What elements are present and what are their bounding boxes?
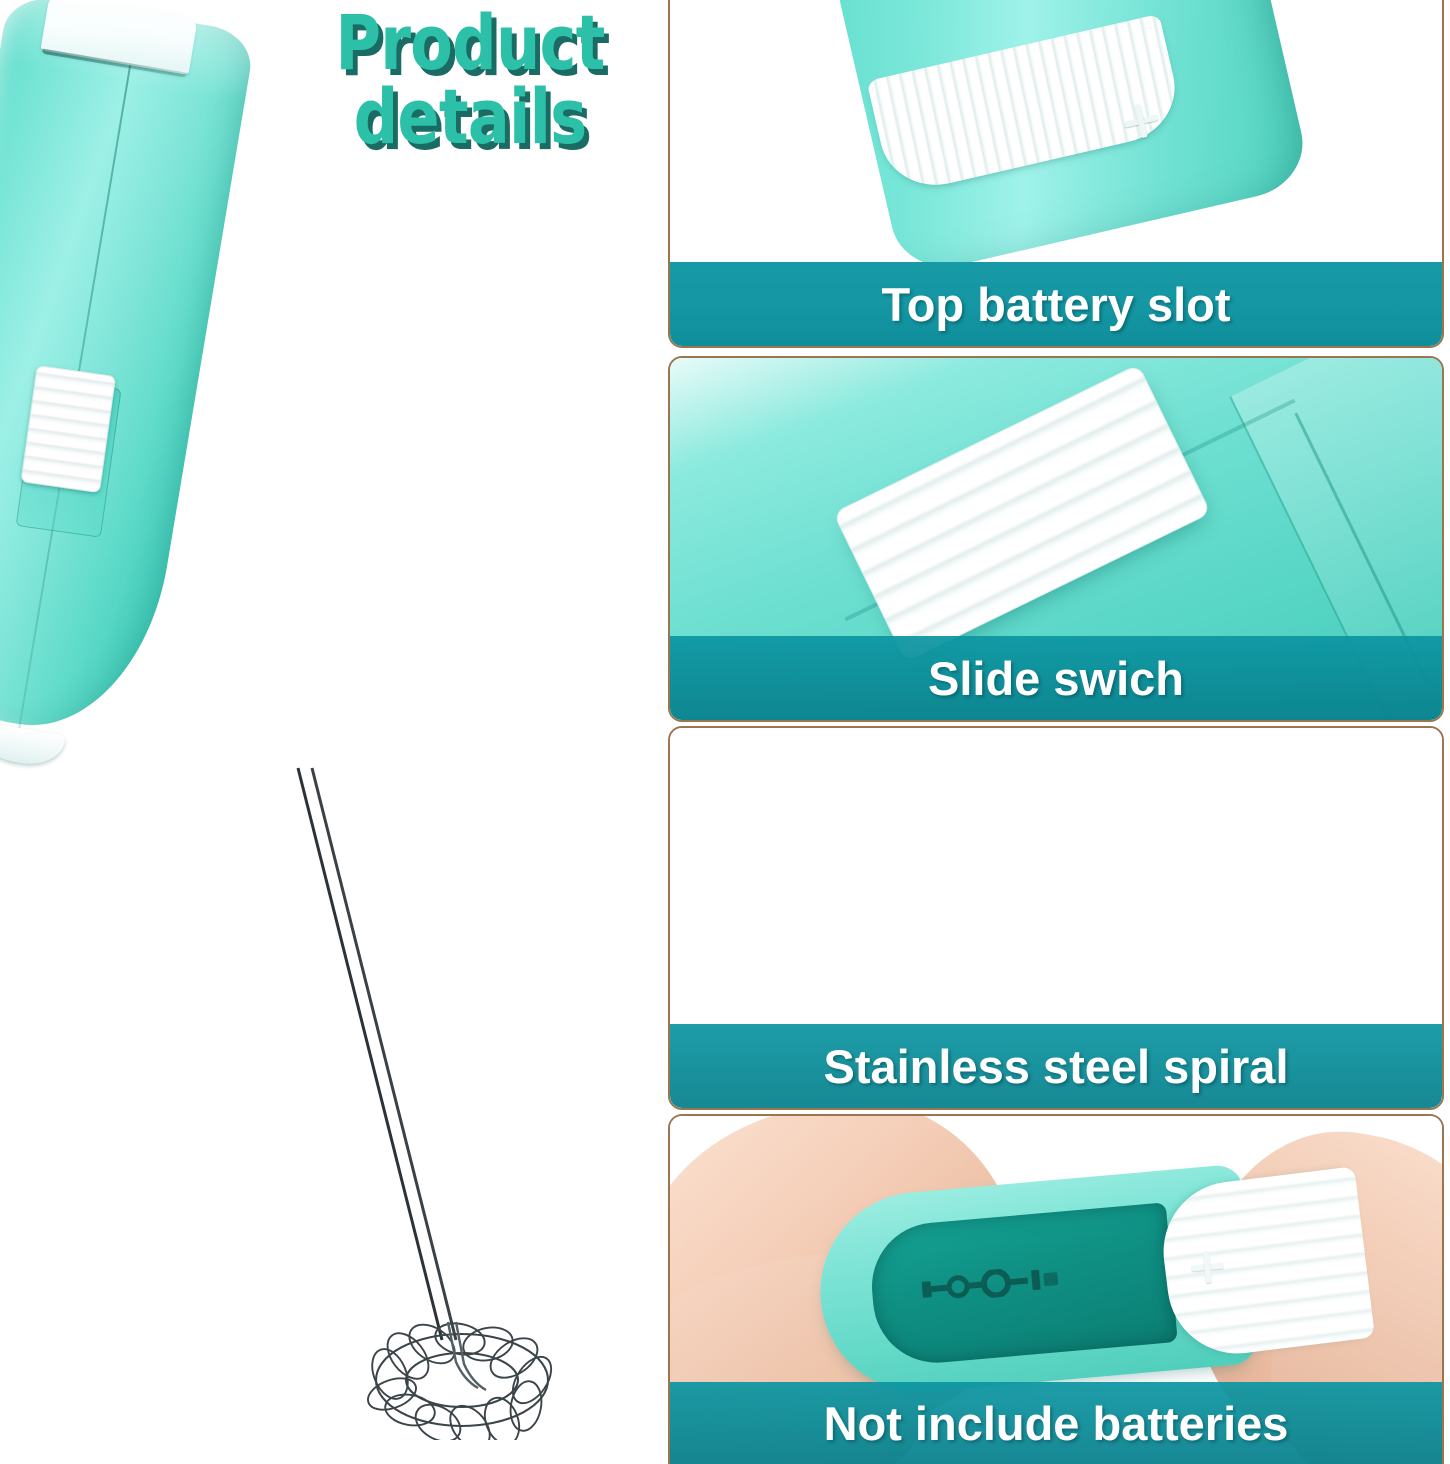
detail-panel-column: Top battery slot Slide swich [660,0,1450,1450]
whisk-shaft [292,764,462,1344]
caption-slide-switch: Slide swich [670,636,1442,720]
page-title: Product details [331,6,610,186]
product-handle [0,0,328,777]
panel-top-battery-slot: Top battery slot [668,0,1444,348]
battery-cap-ribbed [1156,1166,1375,1361]
product-detail-page: Product details [0,0,1450,1450]
polarity-plus-icon [1190,1250,1225,1285]
whisk-coil-icon [352,1318,572,1440]
battery-polarity-marking-icon [919,1261,1091,1304]
caption-not-include-batteries: Not include batteries [670,1382,1442,1464]
slide-switch-icon [20,365,116,493]
hero-product-image: Product details [0,0,660,1450]
panel-not-include-batteries: Not include batteries [668,1114,1444,1464]
caption-top-battery-slot: Top battery slot [670,262,1442,346]
shaft-collar [0,722,66,770]
panel-stainless-steel-spiral: Stainless steel spiral [668,726,1444,1110]
caption-stainless-steel-spiral: Stainless steel spiral [670,1024,1442,1108]
panel-slide-switch: Slide swich [668,356,1444,722]
battery-cavity [867,1202,1178,1368]
